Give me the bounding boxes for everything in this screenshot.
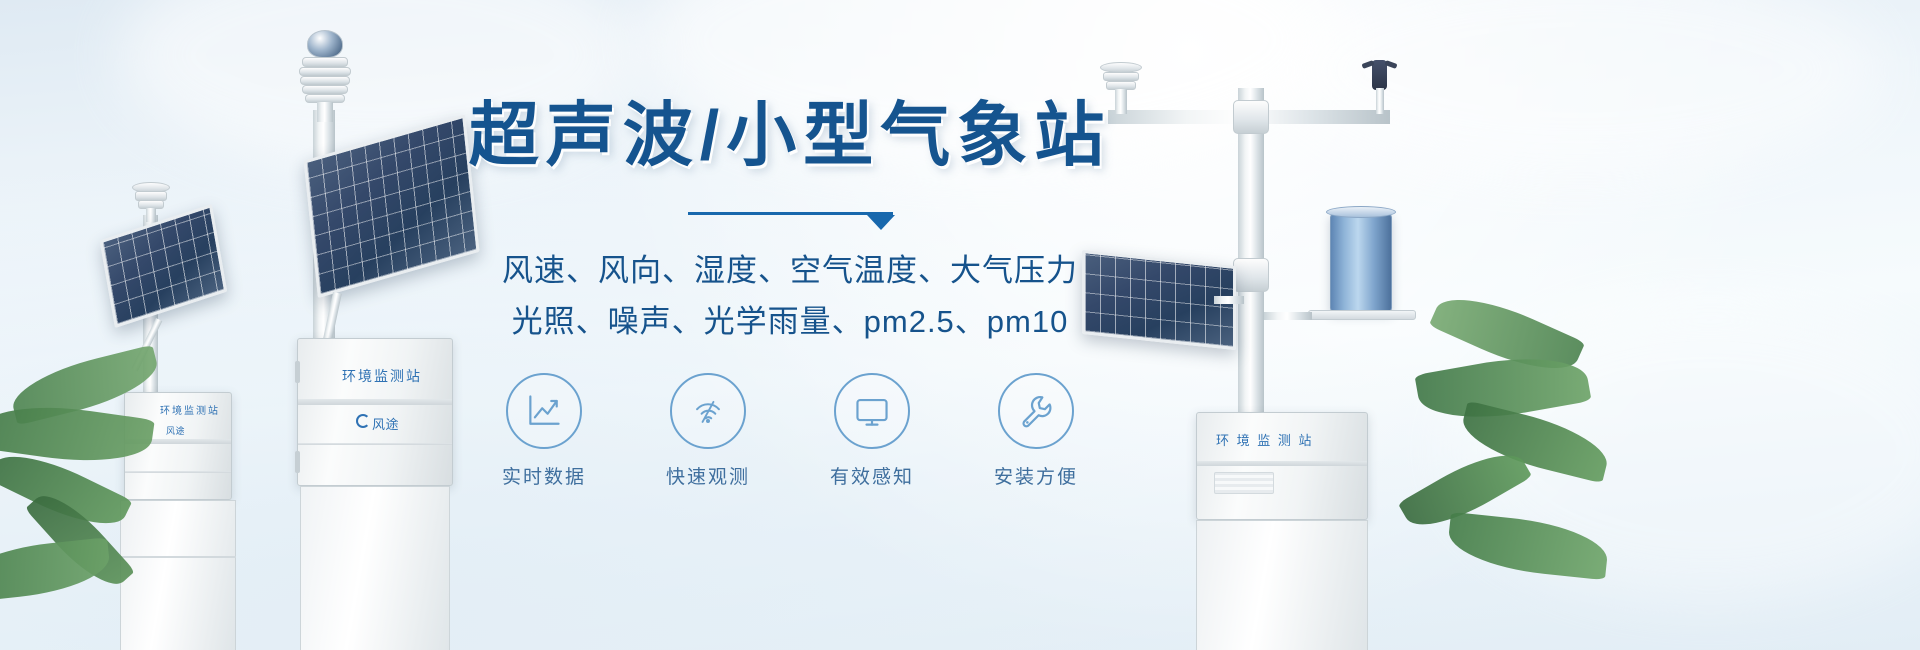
feature-icon-circle <box>506 373 582 449</box>
panel-bracket <box>1214 296 1244 304</box>
rain-gauge <box>1330 212 1392 312</box>
sensor-assembly <box>296 30 354 114</box>
cabinet-door-line <box>125 471 231 473</box>
rain-gauge-shelf <box>1308 310 1416 320</box>
mast-collar <box>1233 258 1269 292</box>
feature-label: 快速观测 <box>653 462 763 489</box>
brand-mark-mid <box>356 414 370 428</box>
sensor-mid-plate <box>1103 72 1139 81</box>
feature-icon-circle <box>834 373 910 449</box>
equipment-cabinet <box>1196 412 1368 520</box>
cabinet-hinge <box>295 361 300 383</box>
subtitle-line-2: 光照、噪声、光学雨量、pm2.5、pm10 <box>430 297 1150 347</box>
sensor-collar <box>302 57 348 67</box>
cabinet-label-right: 环 境 监 测 站 <box>1216 430 1313 449</box>
cabinet-vent <box>1214 472 1274 494</box>
title-divider <box>688 212 893 234</box>
line-chart-icon <box>524 391 564 431</box>
feature-list: 实时数据 快速观测 <box>430 373 1150 489</box>
wrench-icon <box>1016 391 1056 431</box>
solar-panel <box>100 204 228 328</box>
feature-icon-circle <box>670 373 746 449</box>
page-title: 超声波/小型气象站 <box>430 96 1150 174</box>
monitor-icon <box>852 391 892 431</box>
radiation-shield-plate <box>300 76 350 85</box>
feature-label: 安装方便 <box>981 462 1091 489</box>
station-base <box>1196 520 1368 650</box>
sensor-stem <box>146 208 156 222</box>
feature-item-effective-sensing[interactable]: 有效感知 <box>817 373 927 489</box>
rain-gauge-rim <box>1326 206 1396 218</box>
radiation-shield-plate <box>299 67 351 76</box>
rain-dome-icon <box>307 30 343 58</box>
subtitle-line-1: 风速、风向、湿度、空气温度、大气压力 <box>430 246 1150 296</box>
divider-triangle-icon <box>867 215 895 230</box>
product-banner: 环境监测站 风途 环境监测站 <box>0 0 1920 650</box>
signal-wave-icon <box>688 391 728 431</box>
feature-icon-circle <box>998 373 1074 449</box>
feature-label: 有效感知 <box>817 462 927 489</box>
solar-cells <box>100 204 228 328</box>
feature-item-fast-observation[interactable]: 快速观测 <box>653 373 763 489</box>
banner-copy: 超声波/小型气象站 风速、风向、湿度、空气温度、大气压力 光照、噪声、光学雨量、… <box>430 96 1150 489</box>
feature-item-realtime-data[interactable]: 实时数据 <box>489 373 599 489</box>
shelf-bracket <box>1264 312 1312 320</box>
feature-label: 实时数据 <box>489 462 599 489</box>
anemometer <box>1362 56 1398 116</box>
sensor-stem <box>1376 88 1384 114</box>
cabinet-hinge <box>295 451 300 473</box>
radiation-shield-plate <box>302 85 348 94</box>
sensor-stem <box>317 102 333 122</box>
ultrasonic-sensor <box>128 182 174 220</box>
cabinet-label-mid: 环境监测站 <box>342 366 422 386</box>
feature-item-easy-installation[interactable]: 安装方便 <box>981 373 1091 489</box>
base-seam <box>120 556 236 558</box>
station-base <box>300 486 450 650</box>
cabinet-label-left: 环境监测站 <box>160 402 220 417</box>
brand-logo-mid: 风途 <box>372 414 399 433</box>
brand-logo-left: 风途 <box>166 424 185 437</box>
cabinet-door-line <box>298 443 452 445</box>
station-base <box>120 500 236 650</box>
divider-line <box>688 212 893 215</box>
mast-collar <box>1233 100 1269 134</box>
cabinet-band <box>298 399 452 405</box>
cabinet-band <box>1197 461 1367 466</box>
leaf-icon <box>0 537 112 602</box>
